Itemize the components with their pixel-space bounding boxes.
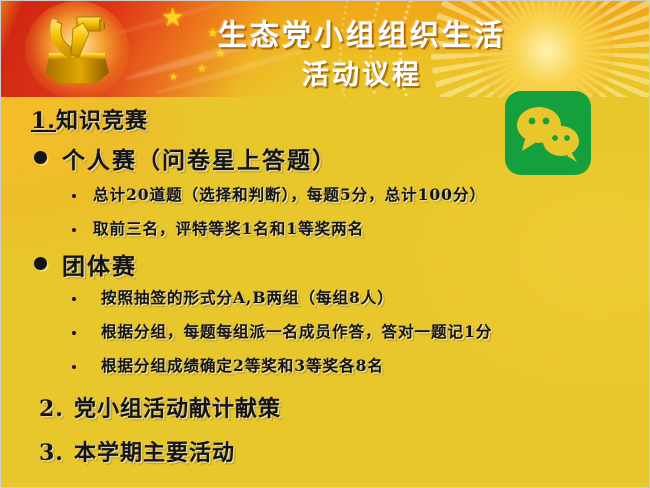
slide-subtitle-line-2: 活动议程 bbox=[37, 53, 650, 92]
agenda-detail-group-draw: 按照抽签的形式分A,B两组（每组8人） bbox=[101, 286, 394, 308]
slide-content-body: 1.知识竞赛 个人赛（问卷星上答题） 总计20道题（选择和判断），每题5分，总计… bbox=[1, 97, 650, 488]
agenda-item-2: 2.党小组活动献计献策 bbox=[39, 391, 281, 423]
agenda-item-2-number: 2. bbox=[39, 396, 64, 422]
agenda-item-1-number: 1. bbox=[31, 108, 56, 134]
agenda-item-2-label: 党小组活动献计献策 bbox=[74, 396, 281, 422]
bullet-small-icon bbox=[72, 365, 76, 369]
bullet-small-icon bbox=[72, 331, 76, 335]
bullet-small-icon bbox=[72, 194, 76, 198]
agenda-detail-top-three-awards: 取前三名，评特等奖1名和1等奖两名 bbox=[93, 217, 364, 239]
agenda-item-3-number: 3. bbox=[39, 440, 64, 466]
agenda-subitem-team-contest: 团体赛 bbox=[62, 247, 137, 281]
agenda-item-3-label: 本学期主要活动 bbox=[74, 440, 235, 466]
bullet-small-icon bbox=[72, 297, 76, 301]
agenda-detail-second-third-awards: 根据分组成绩确定2等奖和3等奖各8名 bbox=[101, 354, 384, 376]
agenda-item-1: 1.知识竞赛 bbox=[31, 103, 148, 135]
agenda-detail-answer-scoring: 根据分组，每题每组派一名成员作答，答对一题记1分 bbox=[101, 320, 492, 342]
agenda-detail-question-count: 总计20道题（选择和判断），每题5分，总计100分） bbox=[93, 183, 486, 205]
agenda-item-3: 3.本学期主要活动 bbox=[39, 435, 235, 467]
agenda-subitem-individual-contest: 个人赛（问卷星上答题） bbox=[62, 141, 337, 175]
agenda-item-1-label: 知识竞赛 bbox=[56, 108, 148, 134]
presentation-slide: ★ ★ ★ ★ ★ bbox=[0, 0, 650, 488]
bullet-dot-icon bbox=[34, 257, 47, 270]
slide-header-banner: ★ ★ ★ ★ ★ bbox=[1, 1, 650, 97]
bullet-dot-icon bbox=[34, 151, 47, 164]
bullet-small-icon bbox=[72, 228, 76, 232]
slide-title-line-1: 生态党小组组织生活 bbox=[37, 12, 650, 54]
